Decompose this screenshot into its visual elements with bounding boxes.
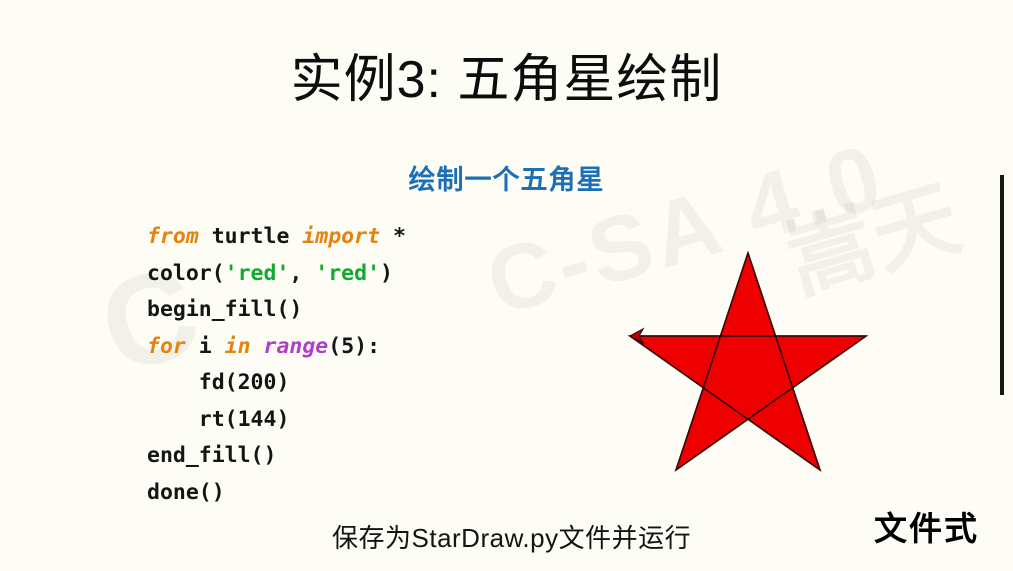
code-token: 'red' [315,261,380,286]
code-token: import [302,224,380,249]
code-line: done() [147,475,406,512]
code-token [251,334,264,359]
code-token: ) [380,261,393,286]
slide-canvas: C C-SA 4.0 嵩天 实例3: 五角星绘制 绘制一个五角星 from tu… [0,0,1013,571]
code-token: fd(200) [147,370,289,395]
code-token: range [264,334,329,359]
code-line: begin_fill() [147,292,406,329]
code-token: 'red' [225,261,290,286]
code-token: color( [147,261,225,286]
code-line: fd(200) [147,365,406,402]
code-token: for [147,334,186,359]
code-token: begin_fill() [147,297,302,322]
star-figure [612,240,884,484]
code-token: turtle [199,224,303,249]
code-token: end_fill() [147,443,276,468]
code-line: rt(144) [147,402,406,439]
slide-title: 实例3: 五角星绘制 [0,48,1013,112]
python-code-block: from turtle import *color('red', 'red')b… [147,219,406,511]
code-token: rt(144) [147,407,289,432]
figure-caption: 保存为StarDraw.py文件并运行 [332,521,691,555]
code-token: in [225,334,251,359]
code-token: * [380,224,406,249]
code-line: for i in range(5): [147,329,406,366]
code-line: from turtle import * [147,219,406,256]
code-token: i [186,334,225,359]
code-token: , [289,261,315,286]
code-token: from [147,224,199,249]
slide-subtitle: 绘制一个五角星 [0,163,1013,197]
code-token: (5): [328,334,380,359]
right-edge-rule [1000,175,1004,395]
code-line: end_fill() [147,438,406,475]
corner-tag-label: 文件式 [874,508,979,550]
code-token: done() [147,480,225,505]
code-line: color('red', 'red') [147,256,406,293]
